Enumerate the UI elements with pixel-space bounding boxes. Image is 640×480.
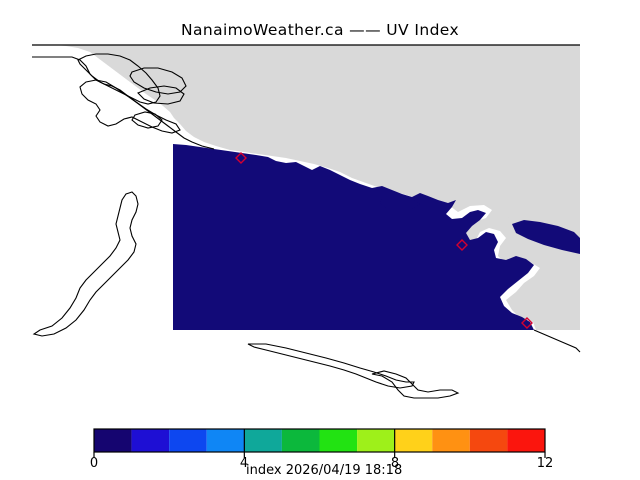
colorbar-band-0 bbox=[94, 429, 132, 452]
colorbar-label-max: 12 bbox=[537, 456, 554, 471]
colorbar-label-min: 0 bbox=[90, 456, 98, 471]
colorbar-band-3 bbox=[207, 429, 245, 452]
colorbar-bands bbox=[94, 429, 545, 452]
weather-map-page: NanaimoWeather.ca —— UV Index bbox=[0, 0, 640, 480]
colorbar-band-11 bbox=[507, 429, 545, 452]
colorbar-band-8 bbox=[395, 429, 433, 452]
colorbar-band-6 bbox=[320, 429, 358, 452]
colorbar-band-1 bbox=[132, 429, 170, 452]
colorbar-band-7 bbox=[357, 429, 395, 452]
colorbar-band-9 bbox=[432, 429, 470, 452]
colorbar-band-4 bbox=[244, 429, 282, 452]
colorbar-caption: index 2026/04/19 18:18 bbox=[246, 463, 402, 478]
uv-index-colorbar: 0 4 8 12 index 2026/04/19 18:18 bbox=[0, 0, 640, 480]
colorbar-band-2 bbox=[169, 429, 207, 452]
colorbar-band-10 bbox=[470, 429, 508, 452]
colorbar-band-5 bbox=[282, 429, 320, 452]
